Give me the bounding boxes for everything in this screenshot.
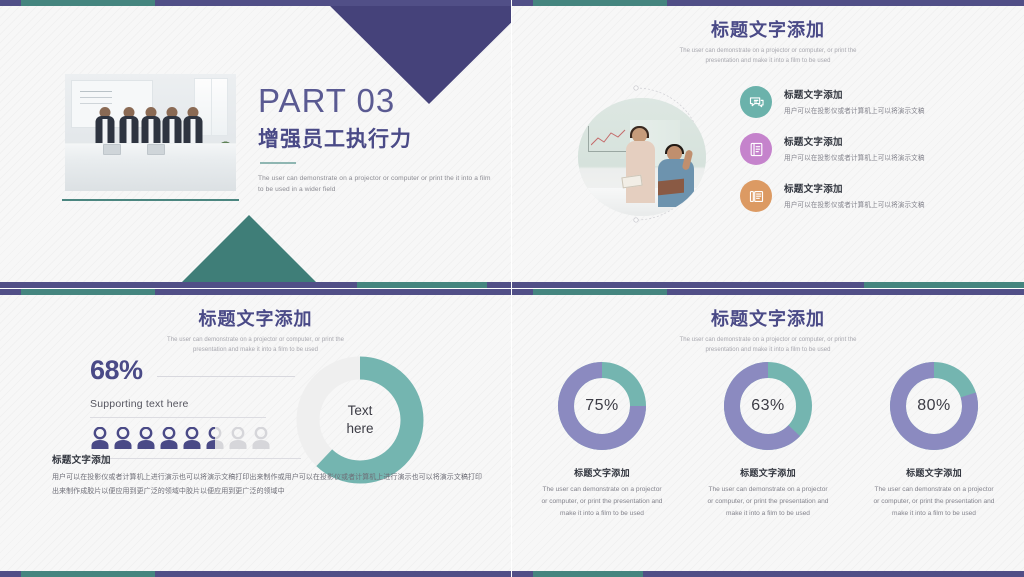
- photo-folder: [658, 179, 684, 196]
- bar-segment-purple: [155, 0, 511, 6]
- kpi-title: 标题文字添加: [707, 466, 829, 479]
- percent-rule: [157, 376, 295, 377]
- chat-bubble-icon: [740, 86, 772, 118]
- slide1-top-bar: [0, 0, 511, 6]
- person-icon-filled: [136, 427, 156, 449]
- kpi-row: 75% 标题文字添加 The user can demonstrate on a…: [512, 359, 1024, 521]
- kpi-donut-chart: 80%: [887, 359, 981, 453]
- bar-segment-purple: [155, 571, 511, 577]
- page-title: 标题文字添加: [512, 305, 1024, 331]
- slide2-header: 标题文字添加 The user can demonstrate on a pro…: [512, 16, 1024, 66]
- feature-desc: 用户可以在投影仪或者计算机上可以将演示文稿: [784, 199, 925, 209]
- heading-rule: [260, 162, 296, 164]
- bar-segment-teal: [533, 571, 643, 577]
- feature-item[interactable]: 标题文字添加 用户可以在投影仪或者计算机上可以将演示文稿: [740, 180, 1006, 212]
- slide-part-03[interactable]: PART 03 增强员工执行力 The user can demonstrate…: [0, 0, 511, 288]
- decor-triangle-up: [181, 215, 317, 283]
- feature-desc: 用户可以在投影仪或者计算机上可以将演示文稿: [784, 152, 925, 162]
- notebook-icon: [740, 133, 772, 165]
- kpi-donut-chart: 63%: [721, 359, 815, 453]
- footer-block: 标题文字添加 用户可以在投影仪或者计算机上进行演示也可以将演示文稿打印出来制作或…: [52, 452, 485, 498]
- part-label: PART 03: [258, 84, 496, 119]
- kpi-description: The user can demonstrate on a projector …: [873, 484, 995, 521]
- feature-desc: 用户可以在投影仪或者计算机上可以将演示文稿: [784, 105, 925, 115]
- kpi-donut-chart: 75%: [555, 359, 649, 453]
- footer-title: 标题文字添加: [52, 452, 485, 466]
- bar-segment-purple: [487, 282, 511, 288]
- page-title: 标题文字添加: [512, 16, 1024, 42]
- people-icon-row: [90, 427, 295, 449]
- bar-segment-purple: [667, 289, 1024, 295]
- donut-label-line2: here: [346, 420, 373, 438]
- person-icon-empty: [251, 427, 271, 449]
- part-heading: 增强员工执行力: [258, 123, 496, 153]
- bar-segment-purple: [512, 0, 533, 6]
- person-icon-empty: [228, 427, 248, 449]
- person-icon-half: [205, 427, 225, 449]
- meeting-photo: [65, 74, 236, 191]
- page-subtitle: The user can demonstrate on a projector …: [673, 46, 863, 66]
- kpi-title: 标题文字添加: [873, 466, 995, 479]
- stat-block: 68% Supporting text here: [90, 357, 295, 459]
- slide-percentage[interactable]: 标题文字添加 The user can demonstrate on a pro…: [0, 289, 511, 577]
- bar-segment-purple: [155, 289, 511, 295]
- bar-segment-teal: [21, 571, 155, 577]
- slide4-bottom-bar: [512, 571, 1024, 577]
- feature-text: 标题文字添加 用户可以在投影仪或者计算机上可以将演示文稿: [784, 180, 925, 209]
- kpi-description: The user can demonstrate on a projector …: [541, 484, 663, 521]
- person-icon-filled: [159, 427, 179, 449]
- bar-segment-teal: [357, 282, 487, 288]
- bar-segment-purple: [0, 0, 21, 6]
- slide3-top-bar: [0, 289, 511, 295]
- bar-segment-purple: [512, 282, 864, 288]
- bar-segment-purple: [0, 289, 21, 295]
- divider: [90, 417, 266, 418]
- slide1-bottom-bar: [0, 282, 511, 288]
- slide4-top-bar: [512, 289, 1024, 295]
- slide-features[interactable]: 标题文字添加 The user can demonstrate on a pro…: [512, 0, 1024, 288]
- bar-segment-purple: [643, 571, 1024, 577]
- bar-segment-teal: [533, 289, 667, 295]
- photo-chart: [588, 126, 628, 152]
- bar-segment-teal: [21, 289, 155, 295]
- kpi-value: 63%: [721, 359, 815, 453]
- bar-segment-teal: [533, 0, 667, 6]
- slide3-bottom-bar: [0, 571, 511, 577]
- kpi-value: 75%: [555, 359, 649, 453]
- newspaper-icon: [740, 180, 772, 212]
- slide-deck: PART 03 增强员工执行力 The user can demonstrate…: [0, 0, 1024, 577]
- bar-segment-teal: [864, 282, 1024, 288]
- kpi-description: The user can demonstrate on a projector …: [707, 484, 829, 521]
- supporting-text: Supporting text here: [90, 398, 295, 410]
- photo-underline: [62, 199, 239, 201]
- donut-label-line1: Text: [348, 402, 373, 420]
- footer-description: 用户可以在投影仪或者计算机上进行演示也可以将演示文稿打印出来制作或用户可以在投影…: [52, 471, 485, 498]
- slide3-header: 标题文字添加 The user can demonstrate on a pro…: [0, 305, 511, 355]
- kpi-item[interactable]: 80% 标题文字添加 The user can demonstrate on a…: [873, 359, 995, 521]
- part-description: The user can demonstrate on a projector …: [258, 173, 496, 196]
- feature-text: 标题文字添加 用户可以在投影仪或者计算机上可以将演示文稿: [784, 86, 925, 115]
- feature-title: 标题文字添加: [784, 181, 925, 195]
- person-icon-filled: [90, 427, 110, 449]
- circular-photo-frame: [574, 84, 709, 224]
- bar-segment-purple: [512, 289, 533, 295]
- slide4-header: 标题文字添加 The user can demonstrate on a pro…: [512, 305, 1024, 355]
- bar-segment-purple: [512, 571, 533, 577]
- feature-list: 标题文字添加 用户可以在投影仪或者计算机上可以将演示文稿 标题文字添加 用户可以…: [740, 86, 1006, 227]
- bar-segment-purple: [0, 571, 21, 577]
- bar-segment-teal: [21, 0, 155, 6]
- person-icon-filled: [113, 427, 133, 449]
- feature-title: 标题文字添加: [784, 87, 925, 101]
- presenter-photo: [578, 98, 706, 216]
- page-title: 标题文字添加: [0, 305, 511, 331]
- bar-segment-purple: [0, 282, 357, 288]
- kpi-item[interactable]: 63% 标题文字添加 The user can demonstrate on a…: [707, 359, 829, 521]
- feature-text: 标题文字添加 用户可以在投影仪或者计算机上可以将演示文稿: [784, 133, 925, 162]
- person-icon-filled: [182, 427, 202, 449]
- page-subtitle: The user can demonstrate on a projector …: [673, 335, 863, 355]
- photo-presenter: [624, 128, 658, 216]
- slide-kpi-rings[interactable]: 标题文字添加 The user can demonstrate on a pro…: [512, 289, 1024, 577]
- percent-row: 68%: [90, 357, 295, 384]
- bar-segment-purple: [667, 0, 1024, 6]
- slide2-top-bar: [512, 0, 1024, 6]
- kpi-title: 标题文字添加: [541, 466, 663, 479]
- feature-item[interactable]: 标题文字添加 用户可以在投影仪或者计算机上可以将演示文稿: [740, 86, 1006, 118]
- kpi-value: 80%: [887, 359, 981, 453]
- feature-item[interactable]: 标题文字添加 用户可以在投影仪或者计算机上可以将演示文稿: [740, 133, 1006, 165]
- photo-laptop: [147, 144, 165, 155]
- percent-value: 68%: [90, 357, 143, 384]
- kpi-item[interactable]: 75% 标题文字添加 The user can demonstrate on a…: [541, 359, 663, 521]
- feature-title: 标题文字添加: [784, 134, 925, 148]
- slide2-bottom-bar: [512, 282, 1024, 288]
- part-text-block: PART 03 增强员工执行力 The user can demonstrate…: [258, 84, 496, 196]
- photo-laptop: [103, 144, 121, 155]
